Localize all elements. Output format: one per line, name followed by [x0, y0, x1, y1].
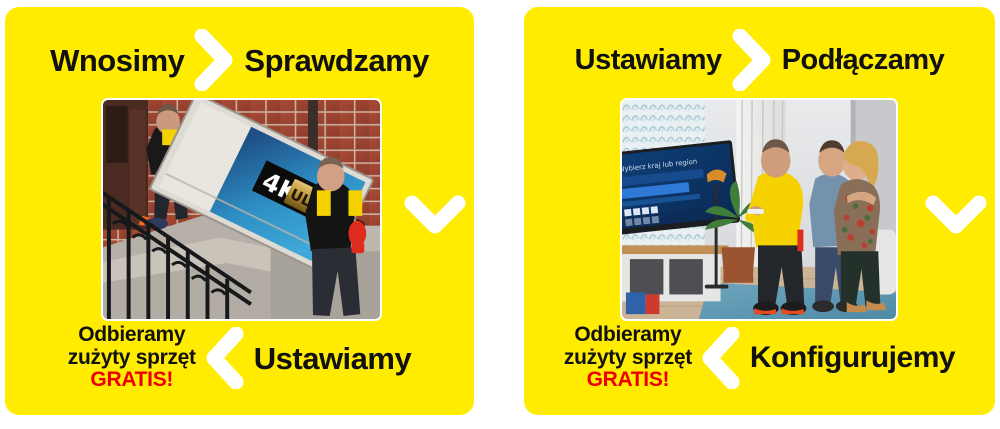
photo-carrying-tv-up-stairs: 4K ULTRA HD [101, 98, 382, 321]
panel-delivery-bottom-row: Odbieramy zużyty sprzęt GRATIS! Ustawiam… [5, 315, 474, 401]
panel-installation: Ustawiamy Podłączamy [524, 7, 995, 415]
recycle-line-1: Odbieramy [68, 324, 196, 347]
recycle-line-2: zużyty sprzęt [68, 347, 196, 370]
panel-installation-top-row: Ustawiamy Podłączamy [524, 31, 995, 89]
step-label-podlaczamy: Podłączamy [782, 46, 945, 75]
photo-technician-configuring-tv-with-customers: Wybierz kraj lub region [620, 98, 898, 321]
step-label-wnosimy: Wnosimy [50, 45, 184, 76]
photo-artwork: Wybierz kraj lub region [622, 100, 896, 319]
step-label-ustawiamy: Ustawiamy [254, 343, 411, 374]
recycle-note: Odbieramy zużyty sprzęt GRATIS! [68, 324, 196, 392]
step-label-konfigurujemy: Konfigurujemy [750, 343, 955, 373]
recycle-line-2: zużyty sprzęt [564, 347, 692, 370]
chevron-right-icon [192, 29, 236, 91]
recycle-line-3-gratis: GRATIS! [564, 369, 692, 392]
recycle-line-1: Odbieramy [564, 324, 692, 347]
step-label-ustawiamy-2: Ustawiamy [575, 46, 722, 75]
recycle-line-3-gratis: GRATIS! [68, 369, 196, 392]
recycle-note: Odbieramy zużyty sprzęt GRATIS! [564, 324, 692, 392]
chevron-down-icon [404, 193, 466, 239]
panel-delivery-top-row: Wnosimy Sprawdzamy [5, 31, 474, 89]
panel-installation-bottom-row: Odbieramy zużyty sprzęt GRATIS! Konfigur… [524, 315, 995, 401]
chevron-down-icon [925, 193, 987, 239]
panel-delivery: Wnosimy Sprawdzamy [5, 7, 474, 415]
chevron-right-icon [730, 29, 774, 91]
service-steps-banner: Wnosimy Sprawdzamy [0, 0, 1000, 429]
chevron-left-icon [698, 327, 744, 389]
step-label-sprawdzamy: Sprawdzamy [244, 45, 429, 76]
chevron-left-icon [202, 327, 248, 389]
photo-artwork: 4K ULTRA HD [103, 100, 380, 319]
